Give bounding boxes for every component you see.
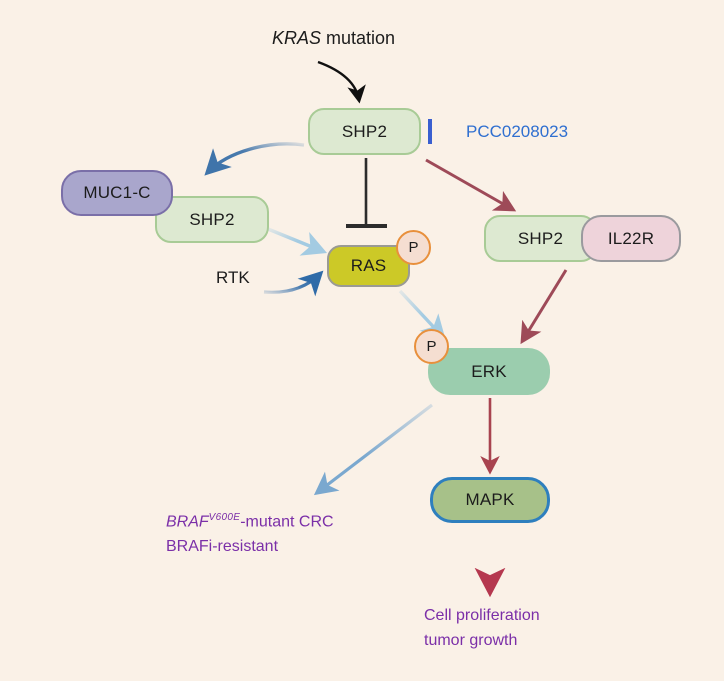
braf-line-2: BRAFi-resistant xyxy=(166,534,334,559)
drug-name-text: PCC0208023 xyxy=(466,122,568,141)
braf-gene-name: BRAF xyxy=(166,513,209,530)
label-braf-mutant-crc: BRAFV600E-mutant CRC BRAFi-resistant xyxy=(166,505,334,559)
node-shp2-left[interactable]: SHP2 xyxy=(155,196,269,243)
outcome-line-1: Cell proliferation xyxy=(424,603,540,628)
phospho-label: P xyxy=(408,239,418,256)
label-drug-pcc0208023: PCC0208023 xyxy=(466,122,568,142)
rtk-text: RTK xyxy=(216,268,250,287)
node-label: SHP2 xyxy=(189,210,234,230)
node-label: SHP2 xyxy=(342,122,387,142)
braf-line-1: BRAFV600E-mutant CRC xyxy=(166,505,334,534)
braf-variant-superscript: V600E xyxy=(209,512,241,523)
edge-shp2-to-muc1c xyxy=(208,144,304,172)
node-shp2-top[interactable]: SHP2 xyxy=(308,108,421,155)
node-label: IL22R xyxy=(608,229,654,249)
label-rtk: RTK xyxy=(216,268,250,288)
edge-il22r-to-erk xyxy=(523,270,566,340)
node-label: MUC1-C xyxy=(83,183,150,203)
phospho-icon-ras: P xyxy=(396,230,431,265)
node-label: MAPK xyxy=(466,490,515,510)
label-kras-mutation: KRAS mutation xyxy=(272,28,395,49)
node-label: ERK xyxy=(471,362,507,382)
kras-gene-name: KRAS xyxy=(272,28,321,48)
node-label: RAS xyxy=(351,256,387,276)
phospho-label: P xyxy=(426,338,436,355)
edge-erk-to-braf xyxy=(318,405,432,492)
outcome-line-2: tumor growth xyxy=(424,628,540,653)
edge-kras-to-shp2 xyxy=(318,62,359,100)
label-outcome: Cell proliferation tumor growth xyxy=(424,603,540,653)
node-label: SHP2 xyxy=(518,229,563,249)
pathway-diagram: SHP2 MUC1-C SHP2 RAS SHP2 IL22R ERK MAPK… xyxy=(0,0,724,681)
braf-mutant-text: -mutant CRC xyxy=(240,513,333,530)
node-il22r[interactable]: IL22R xyxy=(581,215,681,262)
edge-layer xyxy=(0,0,724,681)
kras-mutation-text: mutation xyxy=(321,28,395,48)
edge-shp2left-to-ras xyxy=(268,229,322,251)
node-muc1c[interactable]: MUC1-C xyxy=(61,170,173,216)
node-mapk[interactable]: MAPK xyxy=(430,477,550,523)
edge-rtk-to-ras xyxy=(264,274,320,292)
edge-shp2-to-il22r-complex xyxy=(426,160,512,209)
phospho-icon-erk: P xyxy=(414,329,449,364)
